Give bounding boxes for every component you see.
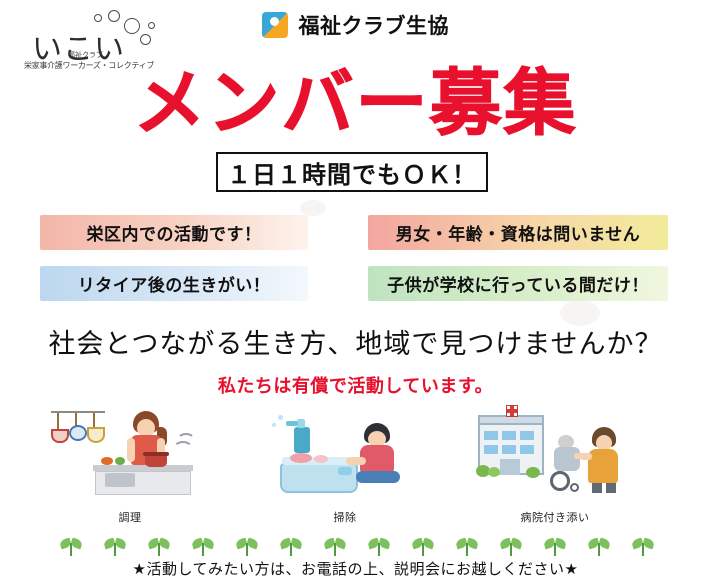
feature-banner-label: 男女・年齢・資格は問いません: [396, 220, 641, 245]
coop-logo-icon: [262, 12, 288, 38]
feature-banner-eligibility: 男女・年齢・資格は問いません: [368, 215, 668, 250]
hospital-escort-icon: [470, 405, 640, 505]
sprout-icon: [456, 535, 478, 557]
sprout-icon: [632, 535, 654, 557]
sprout-icon: [324, 535, 346, 557]
feature-banner-label: リタイア後の生きがい！: [78, 271, 271, 296]
subtitle-box: １日１時間でもＯＫ！: [216, 152, 488, 192]
sprout-icon: [412, 535, 434, 557]
sprout-icon: [104, 535, 126, 557]
sprout-icon: [544, 535, 566, 557]
sprout-icon: [192, 535, 214, 557]
cooking-icon: [45, 405, 215, 505]
page-title: メンバー募集: [0, 44, 711, 149]
feature-banner-retirement: リタイア後の生きがい！: [40, 266, 308, 301]
sprout-icon: [280, 535, 302, 557]
cleaning-icon: [260, 405, 430, 505]
sprout-icon: [60, 535, 82, 557]
illustration-hospital-escort: 病院付き添い: [465, 405, 645, 525]
illustration-row: 調理 掃除: [0, 405, 711, 535]
sprout-icon: [500, 535, 522, 557]
feature-banner-label: 子供が学校に行っている間だけ！: [387, 271, 649, 296]
feature-banner-area: 栄区内での活動です！: [40, 215, 308, 250]
illustration-caption: 調理: [40, 509, 220, 525]
scan-artifact: [300, 200, 326, 216]
illustration-cooking: 調理: [40, 405, 220, 525]
sprout-icon: [588, 535, 610, 557]
organization-name-row: 福祉クラブ生協: [0, 10, 711, 40]
illustration-cleaning: 掃除: [255, 405, 435, 525]
illustration-caption: 病院付き添い: [465, 509, 645, 525]
organization-name: 福祉クラブ生協: [298, 10, 449, 40]
message-subline: 私たちは有償で活動しています。: [0, 372, 711, 398]
poster-page: { "logo": { "main_text": "いこい", "sub_tex…: [0, 0, 711, 582]
sprout-icon: [368, 535, 390, 557]
illustration-caption: 掃除: [255, 509, 435, 525]
message-headline: 社会とつながる生き方、地域で見つけませんか？: [0, 322, 711, 361]
feature-banner-label: 栄区内での活動です！: [87, 220, 262, 245]
sprout-icon: [236, 535, 258, 557]
feature-banner-schoolhours: 子供が学校に行っている間だけ！: [368, 266, 668, 301]
sprout-icon: [148, 535, 170, 557]
subtitle-text: １日１時間でもＯＫ！: [227, 155, 477, 190]
footer-note: ★活動してみたい方は、お電話の上、説明会にお越しください★: [0, 558, 711, 579]
